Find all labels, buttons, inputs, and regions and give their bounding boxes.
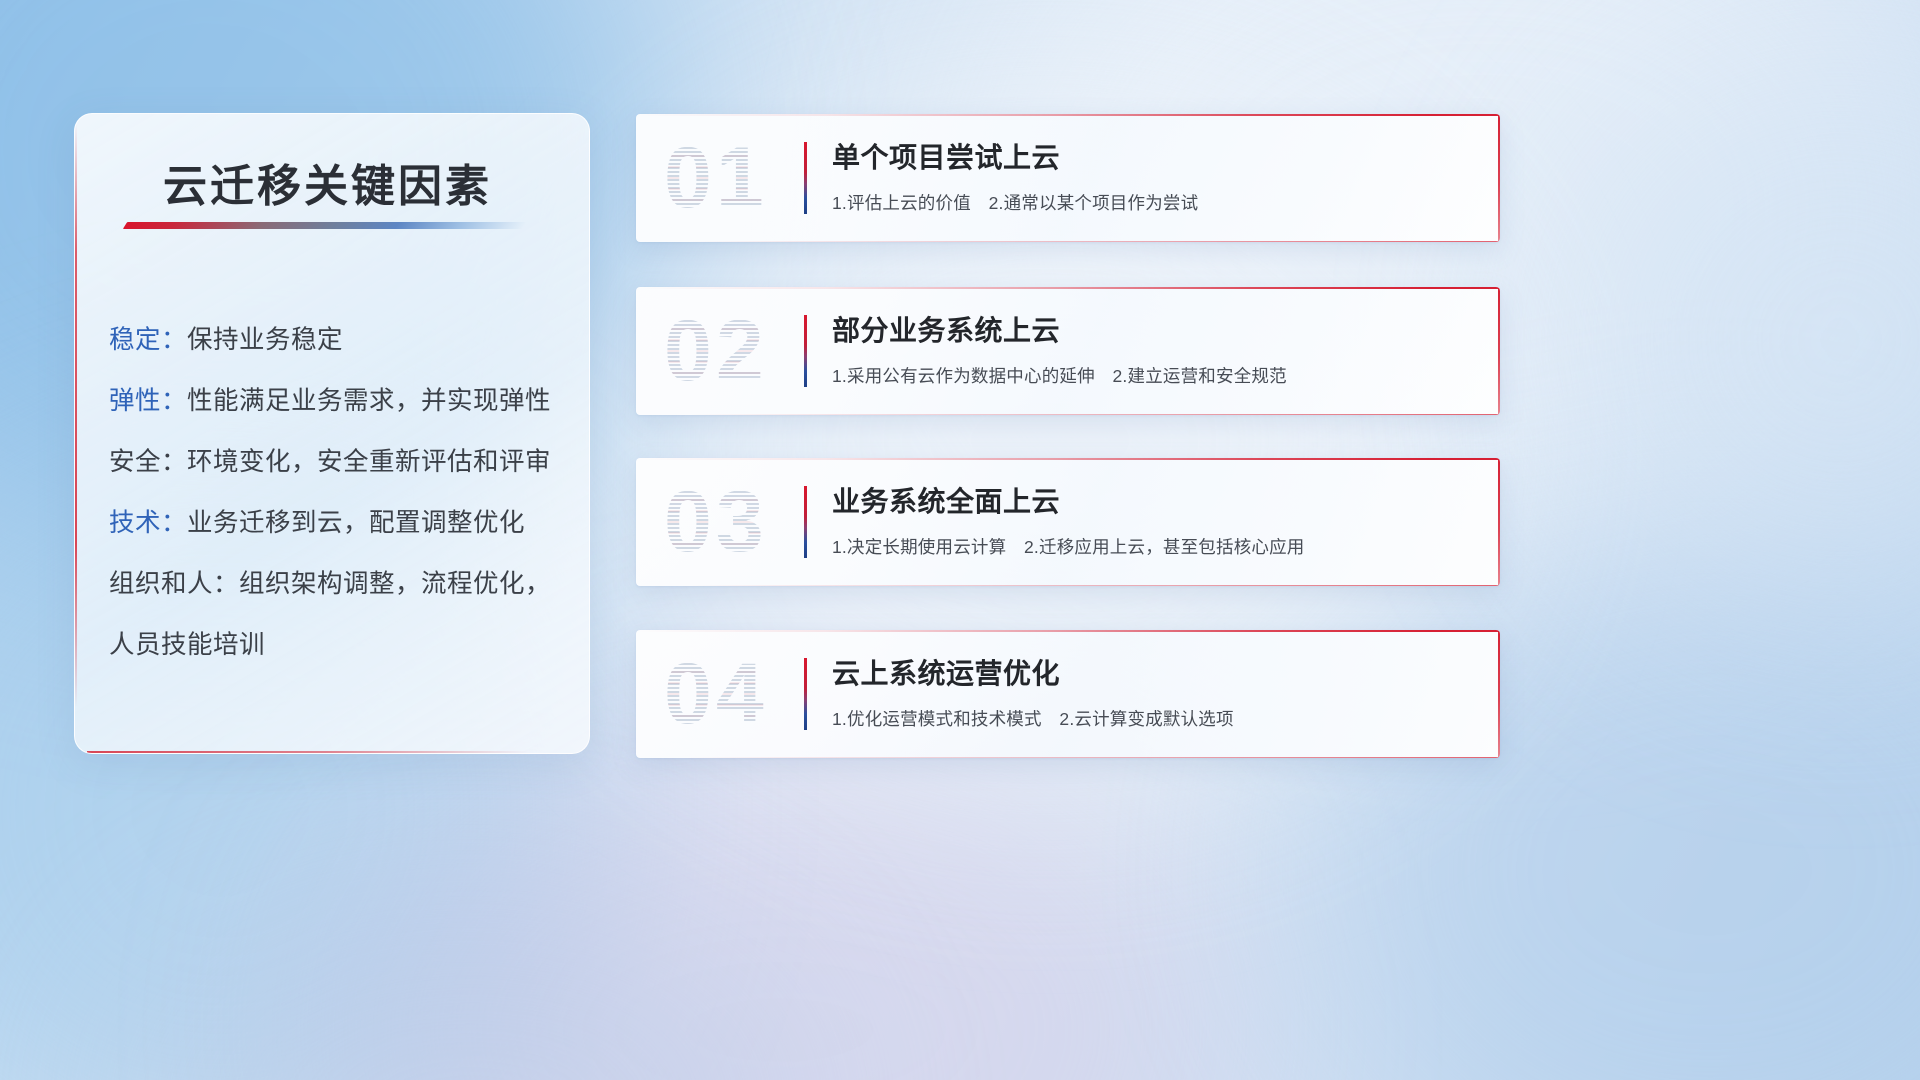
key-factors-panel: 云迁移关键因素 稳定：保持业务稳定 弹性：性能满足业务需求，并实现弹性 安全：环… bbox=[74, 113, 590, 754]
step-number-ghost: 04 bbox=[664, 651, 768, 737]
step-number-ghost: 02 bbox=[664, 308, 768, 394]
factor-row: 稳定：保持业务稳定 bbox=[109, 310, 567, 371]
factor-value: 组织架构调整，流程优化， bbox=[239, 570, 551, 598]
step-number-ghost: 01 bbox=[664, 135, 768, 221]
card-bottom-accent bbox=[688, 241, 1500, 243]
card-top-accent bbox=[636, 287, 1500, 289]
step-description: 1.决定长期使用云计算 2.迁移应用上云，甚至包括核心应用 bbox=[832, 534, 1472, 560]
slide-stage: 云迁移关键因素 稳定：保持业务稳定 弹性：性能满足业务需求，并实现弹性 安全：环… bbox=[0, 0, 1920, 1080]
step-number-glow: 01 bbox=[664, 135, 768, 221]
step-title: 部分业务系统上云 bbox=[832, 311, 1472, 351]
step-card-03[interactable]: 03 03 业务系统全面上云 1.决定长期使用云计算 2.迁移应用上云，甚至包括… bbox=[636, 458, 1500, 586]
step-number-glow: 02 bbox=[664, 308, 768, 394]
step-content: 单个项目尝试上云 1.评估上云的价值 2.通常以某个项目作为尝试 bbox=[832, 138, 1472, 216]
factor-key: 技术： bbox=[109, 509, 187, 537]
factor-key: 安全： bbox=[109, 448, 187, 476]
step-title: 云上系统运营优化 bbox=[832, 654, 1472, 694]
card-right-accent bbox=[1498, 114, 1500, 242]
step-divider-accent bbox=[804, 486, 807, 558]
step-content: 云上系统运营优化 1.优化运营模式和技术模式 2.云计算变成默认选项 bbox=[832, 654, 1472, 732]
factor-row: 组织和人：组织架构调整，流程优化， bbox=[109, 554, 567, 615]
card-bottom-accent bbox=[688, 585, 1500, 587]
card-right-accent bbox=[1498, 458, 1500, 586]
step-card-02[interactable]: 02 02 部分业务系统上云 1.采用公有云作为数据中心的延伸 2.建立运营和安… bbox=[636, 287, 1500, 415]
factor-row-continuation: 人员技能培训 bbox=[109, 615, 567, 676]
step-card-01[interactable]: 01 01 单个项目尝试上云 1.评估上云的价值 2.通常以某个项目作为尝试 bbox=[636, 114, 1500, 242]
factor-row: 技术：业务迁移到云，配置调整优化 bbox=[109, 493, 567, 554]
card-bottom-accent bbox=[688, 757, 1500, 759]
factor-row: 弹性：性能满足业务需求，并实现弹性 bbox=[109, 371, 567, 432]
step-content: 业务系统全面上云 1.决定长期使用云计算 2.迁移应用上云，甚至包括核心应用 bbox=[832, 482, 1472, 560]
card-top-accent bbox=[636, 458, 1500, 460]
card-top-accent bbox=[636, 114, 1500, 116]
step-description: 1.采用公有云作为数据中心的延伸 2.建立运营和安全规范 bbox=[832, 363, 1472, 389]
factor-value: 环境变化，安全重新评估和评审 bbox=[187, 448, 551, 476]
step-number-glow: 03 bbox=[664, 479, 768, 565]
step-title: 单个项目尝试上云 bbox=[832, 138, 1472, 178]
card-bottom-accent bbox=[688, 414, 1500, 416]
panel-title: 云迁移关键因素 bbox=[163, 150, 492, 214]
step-description: 1.优化运营模式和技术模式 2.云计算变成默认选项 bbox=[832, 706, 1472, 732]
factor-key: 组织和人： bbox=[109, 570, 239, 598]
step-divider-accent bbox=[804, 142, 807, 214]
step-divider-accent bbox=[804, 315, 807, 387]
factor-value: 保持业务稳定 bbox=[187, 326, 343, 354]
step-number-ghost: 03 bbox=[664, 479, 768, 565]
factor-value: 业务迁移到云，配置调整优化 bbox=[187, 509, 525, 537]
step-title: 业务系统全面上云 bbox=[832, 482, 1472, 522]
card-top-accent bbox=[636, 630, 1500, 632]
factor-key: 稳定： bbox=[109, 326, 187, 354]
step-description: 1.评估上云的价值 2.通常以某个项目作为尝试 bbox=[832, 190, 1472, 216]
card-right-accent bbox=[1498, 287, 1500, 415]
factor-row: 安全：环境变化，安全重新评估和评审 bbox=[109, 432, 567, 493]
step-card-04[interactable]: 04 04 云上系统运营优化 1.优化运营模式和技术模式 2.云计算变成默认选项 bbox=[636, 630, 1500, 758]
step-divider-accent bbox=[804, 658, 807, 730]
key-factors-list: 稳定：保持业务稳定 弹性：性能满足业务需求，并实现弹性 安全：环境变化，安全重新… bbox=[109, 310, 567, 676]
factor-value: 人员技能培训 bbox=[109, 631, 265, 659]
factor-value: 性能满足业务需求，并实现弹性 bbox=[187, 387, 551, 415]
step-content: 部分业务系统上云 1.采用公有云作为数据中心的延伸 2.建立运营和安全规范 bbox=[832, 311, 1472, 389]
title-underline-accent bbox=[123, 222, 527, 229]
step-number-glow: 04 bbox=[664, 651, 768, 737]
card-right-accent bbox=[1498, 630, 1500, 758]
factor-key: 弹性： bbox=[109, 387, 187, 415]
